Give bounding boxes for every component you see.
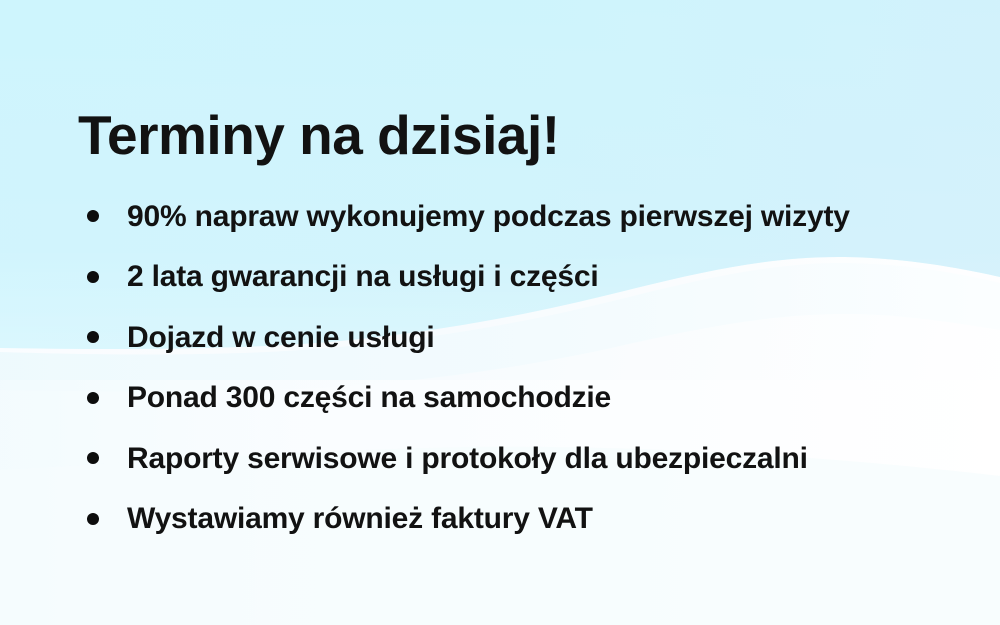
bullet-dot-icon	[87, 210, 99, 222]
page-title: Terminy na dzisiaj!	[78, 107, 560, 165]
list-item: 2 lata gwarancji na usługi i części	[78, 247, 978, 308]
list-item-label: Wystawiamy również faktury VAT	[127, 502, 593, 535]
bullet-dot-icon	[87, 392, 99, 404]
list-item: Wystawiamy również faktury VAT	[78, 489, 978, 550]
list-item: 90% napraw wykonujemy podczas pierwszej …	[78, 186, 978, 247]
list-item: Raporty serwisowe i protokoły dla ubezpi…	[78, 428, 978, 489]
bullet-list: 90% napraw wykonujemy podczas pierwszej …	[78, 186, 978, 549]
bullet-dot-icon	[87, 513, 99, 525]
list-item-label: 2 lata gwarancji na usługi i części	[127, 260, 599, 293]
list-item: Dojazd w cenie usługi	[78, 307, 978, 368]
list-item-label: 90% napraw wykonujemy podczas pierwszej …	[127, 200, 850, 233]
list-item: Ponad 300 części na samochodzie	[78, 368, 978, 429]
list-item-label: Raporty serwisowe i protokoły dla ubezpi…	[127, 442, 808, 475]
list-item-label: Ponad 300 części na samochodzie	[127, 381, 611, 414]
list-item-label: Dojazd w cenie usługi	[127, 321, 435, 354]
presentation-slide: Terminy na dzisiaj! 90% napraw wykonujem…	[0, 0, 1000, 625]
bullet-dot-icon	[87, 452, 99, 464]
bullet-dot-icon	[87, 271, 99, 283]
bullet-dot-icon	[87, 331, 99, 343]
slide-content: Terminy na dzisiaj! 90% napraw wykonujem…	[0, 0, 1000, 625]
